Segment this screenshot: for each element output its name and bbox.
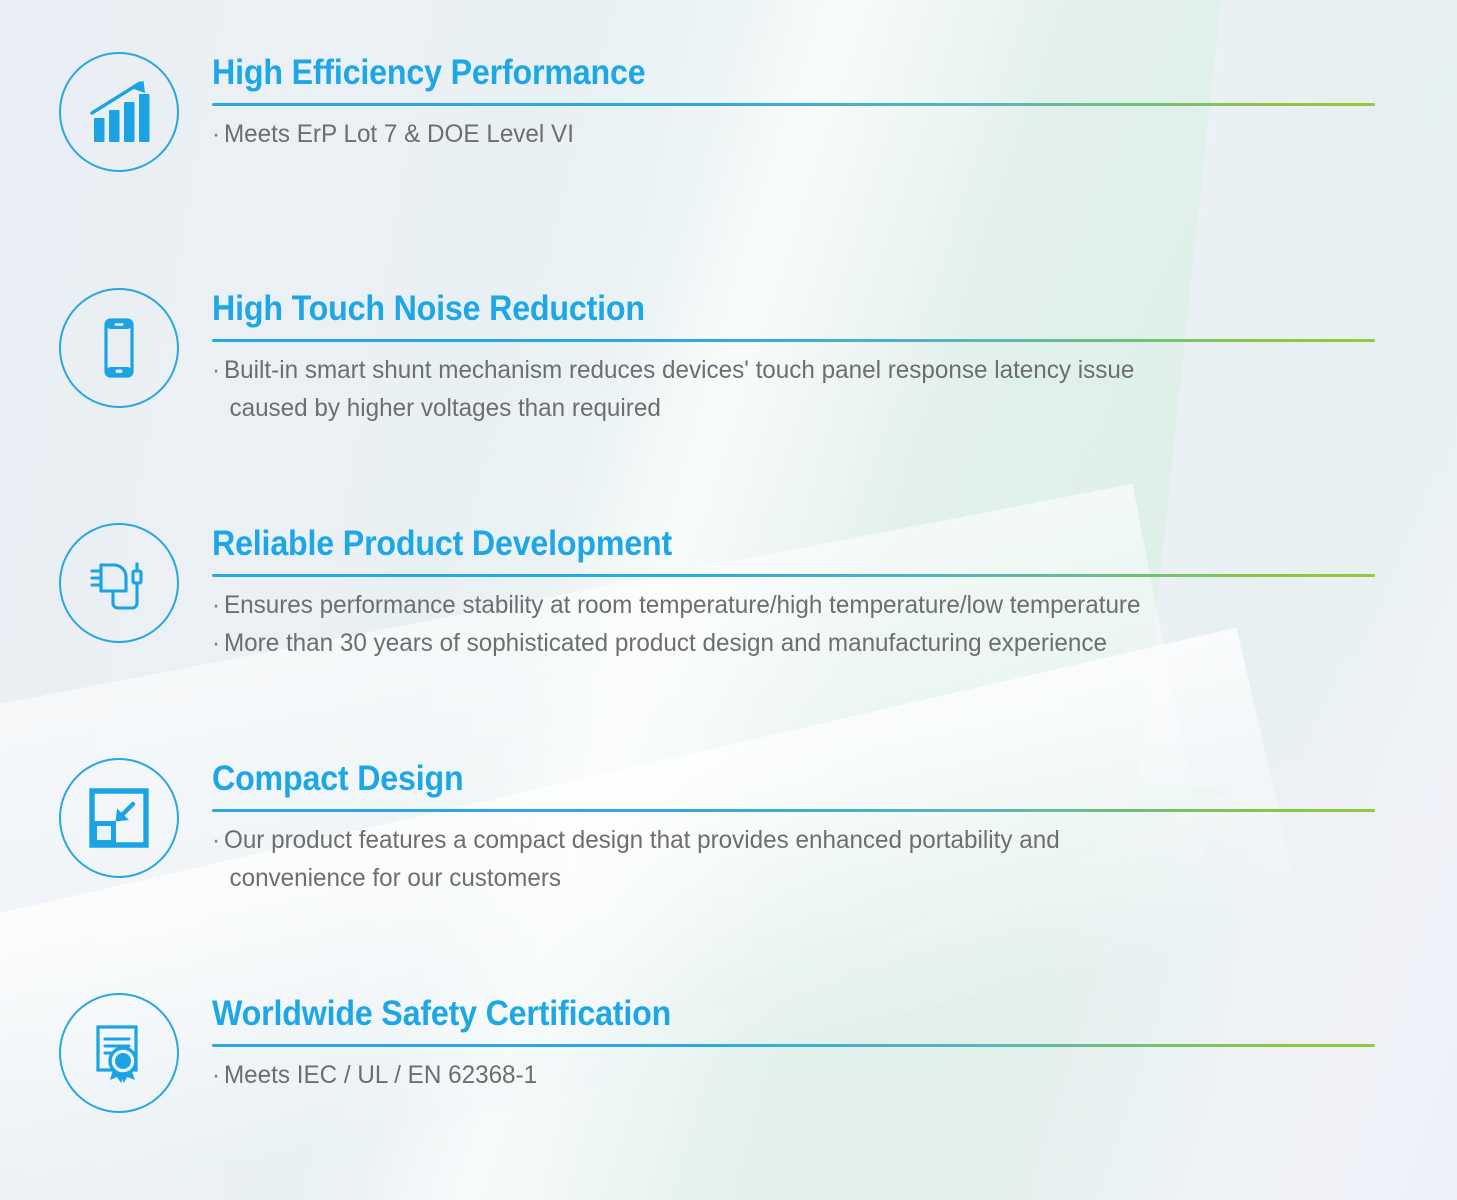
bullet-marker: · <box>212 826 220 854</box>
feature-icon-wrap <box>59 758 179 878</box>
bullet-marker: · <box>212 629 220 657</box>
feature-bullet: ·Built-in smart shunt mechanism reduces … <box>212 351 1347 427</box>
bullet-text: More than 30 years of sophisticated prod… <box>224 629 1107 657</box>
bullet-marker: · <box>212 356 220 384</box>
feature-list-page: High Efficiency Performance ·Meets ErP L… <box>0 0 1457 1200</box>
power-adapter-icon <box>59 523 179 643</box>
bullet-text: Our product features a compact design th… <box>224 826 1060 854</box>
feature-title: Compact Design <box>212 758 1288 800</box>
bullet-text: Meets IEC / UL / EN 62368-1 <box>224 1061 537 1089</box>
feature-icon-wrap <box>59 52 179 172</box>
feature-bullets: ·Built-in smart shunt mechanism reduces … <box>212 351 1382 427</box>
feature-title: Worldwide Safety Certification <box>212 993 1288 1035</box>
feature-body: Compact Design ·Our product features a c… <box>212 758 1382 897</box>
feature-bullets: ·Ensures performance stability at room t… <box>212 586 1382 662</box>
feature-bullets: ·Our product features a compact design t… <box>212 821 1382 897</box>
feature-divider <box>212 103 1375 106</box>
bullet-text-continuation: caused by higher voltages than required <box>212 389 1347 427</box>
bullet-text-continuation: convenience for our customers <box>212 859 1347 897</box>
feature-divider <box>212 339 1375 342</box>
smartphone-icon <box>59 288 179 408</box>
compact-resize-icon <box>59 758 179 878</box>
feature-bullet: ·Our product features a compact design t… <box>212 821 1347 897</box>
feature-divider <box>212 809 1375 812</box>
feature-body: High Touch Noise Reduction ·Built-in sma… <box>212 288 1382 427</box>
feature-title: Reliable Product Development <box>212 523 1288 565</box>
feature-bullets: ·Meets ErP Lot 7 & DOE Level VI <box>212 115 1382 153</box>
certificate-award-icon <box>59 993 179 1113</box>
bullet-text: Built-in smart shunt mechanism reduces d… <box>224 356 1134 384</box>
bullet-marker: · <box>212 120 220 148</box>
feature-body: Reliable Product Development ·Ensures pe… <box>212 523 1382 662</box>
feature-title: High Touch Noise Reduction <box>212 288 1288 330</box>
feature-bullets: ·Meets IEC / UL / EN 62368-1 <box>212 1056 1382 1094</box>
feature-bullet: ·Meets IEC / UL / EN 62368-1 <box>212 1056 1347 1094</box>
bullet-text: Ensures performance stability at room te… <box>224 591 1141 619</box>
bullet-marker: · <box>212 1061 220 1089</box>
bullet-text: Meets ErP Lot 7 & DOE Level VI <box>224 120 574 148</box>
feature-body: High Efficiency Performance ·Meets ErP L… <box>212 52 1382 153</box>
feature-bullet: ·Ensures performance stability at room t… <box>212 586 1347 624</box>
feature-bullet: ·More than 30 years of sophisticated pro… <box>212 624 1347 662</box>
feature-icon-wrap <box>59 993 179 1113</box>
bullet-marker: · <box>212 591 220 619</box>
feature-body: Worldwide Safety Certification ·Meets IE… <box>212 993 1382 1094</box>
feature-title: High Efficiency Performance <box>212 52 1288 94</box>
bar-chart-growth-icon <box>59 52 179 172</box>
feature-bullet: ·Meets ErP Lot 7 & DOE Level VI <box>212 115 1347 153</box>
feature-divider <box>212 1044 1375 1047</box>
feature-icon-wrap <box>59 523 179 643</box>
feature-divider <box>212 574 1375 577</box>
feature-icon-wrap <box>59 288 179 408</box>
